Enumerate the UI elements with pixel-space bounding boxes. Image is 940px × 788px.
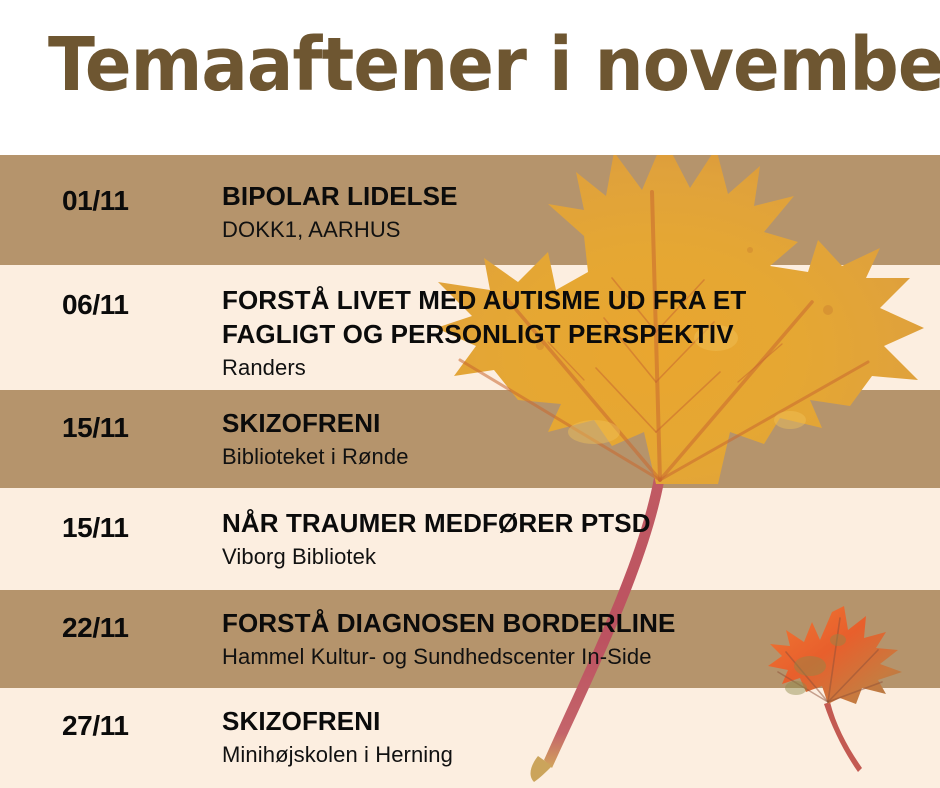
event-details: FORSTÅ DIAGNOSEN BORDERLINE Hammel Kultu… [222, 607, 922, 671]
event-details: BIPOLAR LIDELSE DOKK1, AARHUS [222, 180, 922, 244]
event-row: 06/11 FORSTÅ LIVET MED AUTISME UD FRA ET… [0, 265, 940, 390]
event-title: FORSTÅ LIVET MED AUTISME UD FRA ET FAGLI… [222, 284, 922, 352]
event-row: 15/11 NÅR TRAUMER MEDFØRER PTSD Viborg B… [0, 488, 940, 590]
event-details: SKIZOFRENI Biblioteket i Rønde [222, 407, 922, 471]
event-location: Minihøjskolen i Herning [222, 741, 922, 770]
event-location: Viborg Bibliotek [222, 543, 922, 572]
event-date: 22/11 [62, 612, 129, 644]
event-location: DOKK1, AARHUS [222, 216, 922, 245]
event-details: FORSTÅ LIVET MED AUTISME UD FRA ET FAGLI… [222, 284, 922, 382]
event-details: NÅR TRAUMER MEDFØRER PTSD Viborg Bibliot… [222, 507, 922, 571]
poster-canvas: Temaaftener i november 01/11 BIPOLAR LID… [0, 0, 940, 788]
event-date: 01/11 [62, 185, 129, 217]
event-date: 15/11 [62, 412, 129, 444]
event-location: Randers [222, 354, 922, 383]
event-title: NÅR TRAUMER MEDFØRER PTSD [222, 507, 922, 541]
event-location: Hammel Kultur- og Sundhedscenter In-Side [222, 643, 922, 672]
page-title: Temaaftener i november [48, 26, 940, 106]
event-row: 15/11 SKIZOFRENI Biblioteket i Rønde [0, 390, 940, 488]
event-date: 06/11 [62, 289, 129, 321]
event-date: 27/11 [62, 710, 129, 742]
event-title: BIPOLAR LIDELSE [222, 180, 922, 214]
event-date: 15/11 [62, 512, 129, 544]
event-row: 01/11 BIPOLAR LIDELSE DOKK1, AARHUS [0, 155, 940, 265]
event-row: 27/11 SKIZOFRENI Minihøjskolen i Herning [0, 688, 940, 788]
poster-header: Temaaftener i november [0, 0, 940, 155]
event-title: FORSTÅ DIAGNOSEN BORDERLINE [222, 607, 922, 641]
event-title: SKIZOFRENI [222, 705, 922, 739]
event-location: Biblioteket i Rønde [222, 443, 922, 472]
event-details: SKIZOFRENI Minihøjskolen i Herning [222, 705, 922, 769]
event-row: 22/11 FORSTÅ DIAGNOSEN BORDERLINE Hammel… [0, 590, 940, 688]
event-title: SKIZOFRENI [222, 407, 922, 441]
